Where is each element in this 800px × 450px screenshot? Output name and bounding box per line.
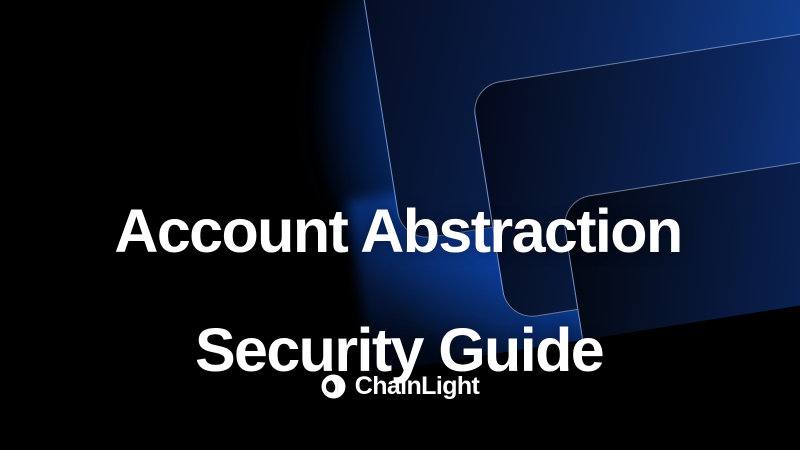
presentation-slide: Account Abstraction Security Guide Chain…	[0, 0, 800, 450]
chainlight-crescent-icon	[321, 374, 346, 399]
page-title-line-1: Account Abstraction	[10, 202, 786, 262]
brand-lockup: ChainLight	[0, 374, 800, 399]
brand-wordmark: ChainLight	[355, 374, 480, 399]
